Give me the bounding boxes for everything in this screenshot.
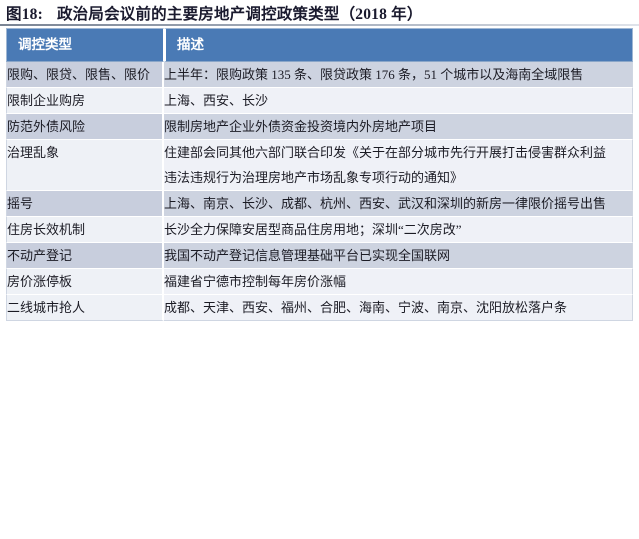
cell-policy-description: 成都、天津、西安、福州、合肥、海南、宁波、南京、沈阳放松落户条 [164, 295, 633, 321]
table-row: 住房长效机制 长沙全力保障安居型商品住房用地；深圳“二次房改” [6, 217, 633, 243]
table-row: 限购、限贷、限售、限价 上半年：限购政策 135 条、限贷政策 176 条，51… [6, 62, 633, 88]
table-header-row: 调控类型 描述 [6, 28, 633, 62]
table-row: 二线城市抢人 成都、天津、西安、福州、合肥、海南、宁波、南京、沈阳放松落户条 [6, 295, 633, 321]
cell-policy-type: 治理乱象 [6, 140, 164, 191]
cell-policy-description: 限制房地产企业外债资金投资境内外房地产项目 [164, 114, 633, 140]
cell-policy-description: 长沙全力保障安居型商品住房用地；深圳“二次房改” [164, 217, 633, 243]
title-divider-rule [0, 24, 639, 26]
column-header-description: 描述 [164, 28, 633, 62]
cell-policy-description: 上海、南京、长沙、成都、杭州、西安、武汉和深圳的新房一律限价摇号出售 [164, 191, 633, 217]
cell-policy-type: 限制企业购房 [6, 88, 164, 114]
table-row: 不动产登记 我国不动产登记信息管理基础平台已实现全国联网 [6, 243, 633, 269]
table-row: 房价涨停板 福建省宁德市控制每年房价涨幅 [6, 269, 633, 295]
table-header: 调控类型 描述 [6, 28, 633, 62]
cell-policy-type: 不动产登记 [6, 243, 164, 269]
table-body: 限购、限贷、限售、限价 上半年：限购政策 135 条、限贷政策 176 条，51… [6, 62, 633, 321]
cell-policy-type: 房价涨停板 [6, 269, 164, 295]
cell-policy-type: 限购、限贷、限售、限价 [6, 62, 164, 88]
figure-title: 图18: 政治局会议前的主要房地产调控政策类型（2018 年） [6, 2, 633, 24]
table-row: 限制企业购房 上海、西安、长沙 [6, 88, 633, 114]
cell-policy-description: 住建部会同其他六部门联合印发《关于在部分城市先行开展打击侵害群众利益违法违规行为… [164, 140, 633, 191]
figure-container: 图18: 政治局会议前的主要房地产调控政策类型（2018 年） 调控类型 描述 … [0, 0, 639, 539]
figure-number: 图18: [6, 2, 43, 24]
cell-policy-description: 上海、西安、长沙 [164, 88, 633, 114]
cell-policy-description: 福建省宁德市控制每年房价涨幅 [164, 269, 633, 295]
cell-policy-type: 摇号 [6, 191, 164, 217]
cell-policy-description: 上半年：限购政策 135 条、限贷政策 176 条，51 个城市以及海南全域限售 [164, 62, 633, 88]
policy-type-table: 调控类型 描述 限购、限贷、限售、限价 上半年：限购政策 135 条、限贷政策 … [6, 28, 633, 321]
column-header-type: 调控类型 [6, 28, 164, 62]
cell-policy-type: 住房长效机制 [6, 217, 164, 243]
figure-title-text: 政治局会议前的主要房地产调控政策类型（2018 年） [57, 2, 423, 24]
table-row: 摇号 上海、南京、长沙、成都、杭州、西安、武汉和深圳的新房一律限价摇号出售 [6, 191, 633, 217]
table-row: 治理乱象 住建部会同其他六部门联合印发《关于在部分城市先行开展打击侵害群众利益违… [6, 140, 633, 191]
cell-policy-type: 防范外债风险 [6, 114, 164, 140]
table-row: 防范外债风险 限制房地产企业外债资金投资境内外房地产项目 [6, 114, 633, 140]
cell-policy-description: 我国不动产登记信息管理基础平台已实现全国联网 [164, 243, 633, 269]
cell-policy-type: 二线城市抢人 [6, 295, 164, 321]
